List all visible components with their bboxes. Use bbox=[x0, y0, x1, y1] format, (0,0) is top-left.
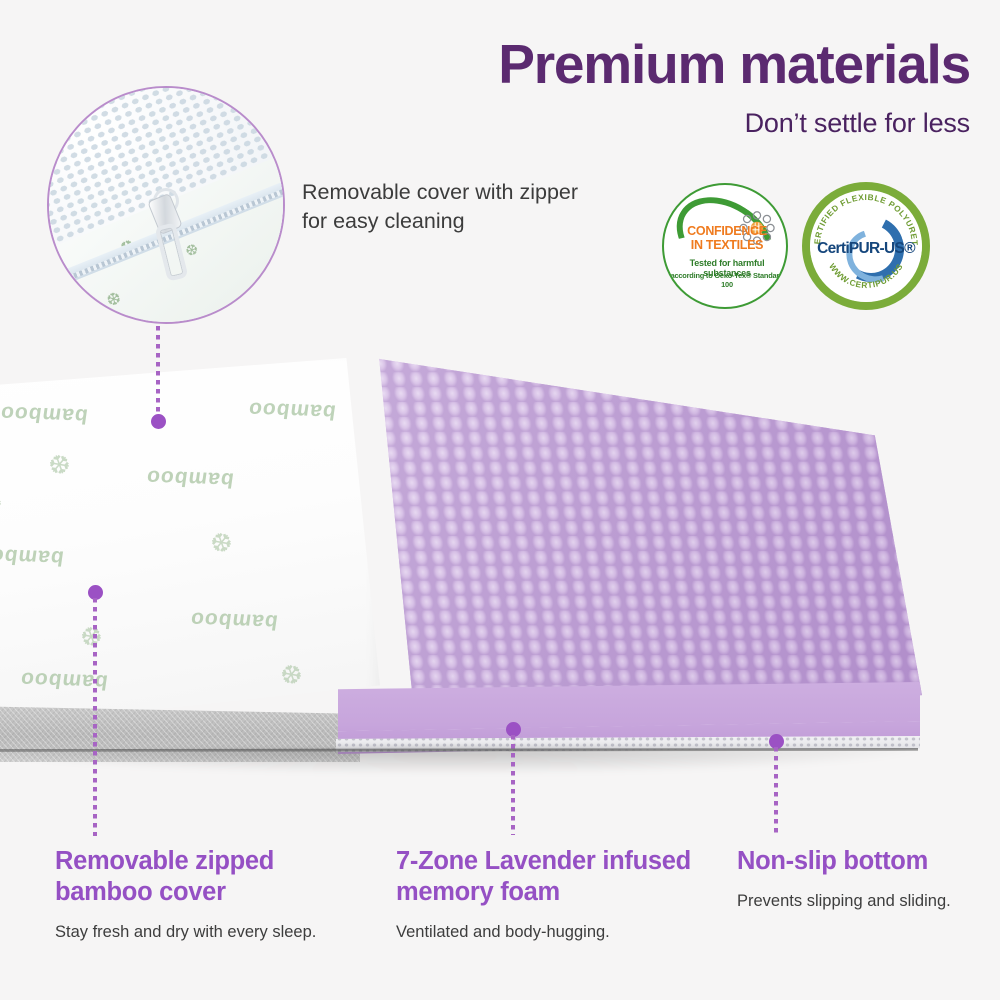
certipur-arc-top-text: CONTAINS CERTIFIED FLEXIBLE POLYURETHANE… bbox=[810, 190, 920, 246]
feature-foam-description: Ventilated and body-hugging. bbox=[396, 922, 716, 943]
feature-nonslip-title: Non-slip bottom bbox=[737, 846, 987, 877]
bamboo-wordmark: bamboo bbox=[0, 401, 89, 428]
page-title: Premium materials bbox=[400, 36, 970, 92]
feature-cover: Removable zipped bamboo cover Stay fresh… bbox=[55, 846, 365, 944]
product-drop-shadow bbox=[0, 748, 920, 774]
oeko-tex-badge: CONFIDENCE IN TEXTILES Tested for harmfu… bbox=[662, 183, 788, 309]
oeko-line-4: according to Oeko-Tex® Standard 100 bbox=[668, 271, 786, 289]
bamboo-wordmark: bamboo bbox=[144, 465, 235, 492]
feature-cover-description: Stay fresh and dry with every sleep. bbox=[55, 922, 365, 943]
feature-foam-title: 7-Zone Lavender infused memory foam bbox=[396, 846, 716, 908]
zipper-callout-text: Removable cover with zipper for easy cle… bbox=[302, 178, 592, 235]
svg-text:WWW.CERTIPUR.US: WWW.CERTIPUR.US bbox=[827, 261, 905, 290]
infographic-canvas: Premium materials Don’t settle for less bbox=[0, 0, 1000, 1000]
lavender-foam-surface bbox=[332, 336, 922, 718]
feature-nonslip-description: Prevents slipping and sliding. bbox=[737, 891, 987, 912]
leader-line-zipper bbox=[156, 326, 160, 422]
certipur-arc-bottom-text: WWW.CERTIPUR.US bbox=[827, 261, 905, 290]
leader-line-nonslip bbox=[774, 747, 778, 835]
feature-cover-title: Removable zipped bamboo cover bbox=[55, 846, 365, 908]
oeko-text-textiles: IN TEXTILES bbox=[691, 238, 763, 252]
zipper-detail-photo: ❆ ❆ ❆ ❆ ❆ bbox=[47, 86, 285, 324]
bamboo-wordmark: bamboo bbox=[188, 607, 279, 634]
bamboo-cover-surface: bamboo bamboo bamboo bamboo bamboo bambo… bbox=[0, 358, 380, 730]
bamboo-wordmark: bamboo bbox=[246, 397, 337, 424]
bamboo-leaf-icon: ❆ bbox=[44, 445, 75, 481]
bamboo-wordmark: bamboo bbox=[0, 543, 65, 570]
oeko-line-1: CONFIDENCE IN TEXTILES bbox=[674, 225, 780, 252]
leader-dot-zipper bbox=[151, 414, 166, 429]
feature-foam: 7-Zone Lavender infused memory foam Vent… bbox=[396, 846, 716, 944]
certification-badges: CONFIDENCE IN TEXTILES Tested for harmfu… bbox=[662, 182, 972, 310]
headline-block: Premium materials Don’t settle for less bbox=[400, 36, 970, 139]
certipur-wordmark: CertiPUR-US® bbox=[810, 240, 922, 258]
foam-wave-profile bbox=[338, 682, 920, 731]
bamboo-leaf-icon: ❆ bbox=[181, 239, 203, 261]
page-subtitle: Don’t settle for less bbox=[400, 108, 970, 139]
svg-text:CONTAINS CERTIFIED FLEXIBLE PO: CONTAINS CERTIFIED FLEXIBLE POLYURETHANE… bbox=[810, 190, 920, 246]
oeko-text-confidence: CONFIDENCE bbox=[687, 224, 767, 238]
bamboo-leaf-icon: ❆ bbox=[76, 617, 107, 653]
certipur-inner-disc: CONTAINS CERTIFIED FLEXIBLE POLYURETHANE… bbox=[810, 190, 922, 302]
bamboo-leaf-icon: ❆ bbox=[105, 289, 124, 312]
product-photo: bamboo bamboo bamboo bamboo bamboo bambo… bbox=[0, 330, 960, 760]
certipur-badge: CONTAINS CERTIFIED FLEXIBLE POLYURETHANE… bbox=[802, 182, 930, 310]
leader-line-cover bbox=[93, 598, 97, 836]
bamboo-leaf-icon: ❆ bbox=[206, 523, 237, 559]
feature-nonslip: Non-slip bottom Prevents slipping and sl… bbox=[737, 846, 987, 913]
bamboo-leaf-icon: ❆ bbox=[276, 655, 307, 691]
leader-line-foam bbox=[511, 735, 515, 835]
egg-crate-texture bbox=[332, 336, 922, 718]
bamboo-leaf-icon: ❆ bbox=[0, 483, 6, 519]
